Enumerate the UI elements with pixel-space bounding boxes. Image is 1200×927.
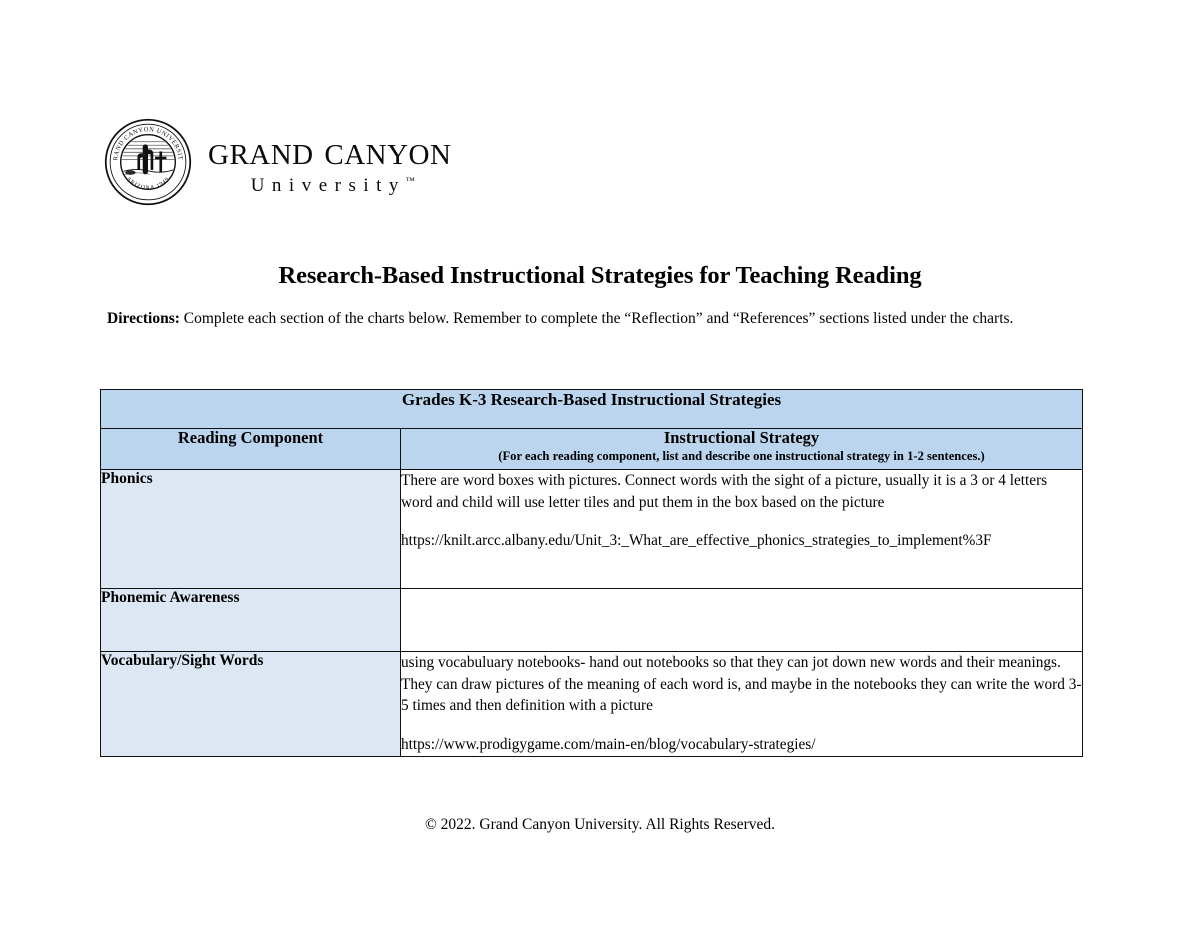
- column-header-instructional-strategy-hint: (For each reading component, list and de…: [401, 449, 1082, 463]
- copyright-footer: © 2022. Grand Canyon University. All Rig…: [0, 816, 1200, 834]
- strategy-spacer: [401, 513, 1082, 530]
- strategy-source-url[interactable]: https://knilt.arcc.albany.edu/Unit_3:_Wh…: [401, 530, 1082, 552]
- reading-component-cell: Vocabulary/Sight Words: [101, 652, 401, 757]
- document-page: GRAND CANYON UNIVERSITY ARIZONA 1949 Gra…: [0, 0, 1200, 927]
- wordmark-line-2: University™: [251, 176, 415, 195]
- table-header-row: Reading Component Instructional Strategy…: [101, 429, 1083, 470]
- instructional-strategy-cell[interactable]: There are word boxes with pictures. Conn…: [401, 470, 1083, 589]
- table-row: Phonics There are word boxes with pictur…: [101, 470, 1083, 589]
- table-caption-row: Grades K-3 Research-Based Instructional …: [101, 390, 1083, 429]
- strategy-spacer: [401, 717, 1082, 734]
- gcu-seal-icon: GRAND CANYON UNIVERSITY ARIZONA 1949: [104, 118, 192, 206]
- gcu-logo: GRAND CANYON UNIVERSITY ARIZONA 1949 Gra…: [104, 114, 451, 210]
- reading-component-cell: Phonemic Awareness: [101, 589, 401, 652]
- directions-paragraph: Directions: Complete each section of the…: [107, 308, 1059, 329]
- instructional-strategy-cell[interactable]: [401, 589, 1083, 652]
- directions-text: Complete each section of the charts belo…: [180, 310, 1014, 327]
- wordmark-line-1: Grand Canyon: [208, 130, 451, 171]
- instructional-strategy-cell[interactable]: using vocabuluary notebooks- hand out no…: [401, 652, 1083, 757]
- table-caption: Grades K-3 Research-Based Instructional …: [101, 390, 1083, 429]
- column-header-reading-component-label: Reading Component: [101, 429, 400, 448]
- strategy-description: using vocabuluary notebooks- hand out no…: [401, 652, 1082, 717]
- reading-component-cell: Phonics: [101, 470, 401, 589]
- strategies-table: Grades K-3 Research-Based Instructional …: [100, 389, 1083, 757]
- column-header-reading-component: Reading Component: [101, 429, 401, 470]
- trademark-icon: ™: [406, 175, 415, 185]
- strategy-description: There are word boxes with pictures. Conn…: [401, 470, 1082, 513]
- table-row: Phonemic Awareness: [101, 589, 1083, 652]
- directions-label: Directions:: [107, 310, 180, 327]
- column-header-instructional-strategy-label: Instructional Strategy: [401, 429, 1082, 448]
- column-header-instructional-strategy: Instructional Strategy (For each reading…: [401, 429, 1083, 470]
- table-row: Vocabulary/Sight Words using vocabuluary…: [101, 652, 1083, 757]
- strategy-source-url[interactable]: https://www.prodigygame.com/main-en/blog…: [401, 734, 1082, 756]
- wordmark-line-2-text: University: [251, 175, 406, 196]
- gcu-wordmark: Grand Canyon University™: [208, 130, 451, 195]
- page-title: Research-Based Instructional Strategies …: [0, 262, 1200, 290]
